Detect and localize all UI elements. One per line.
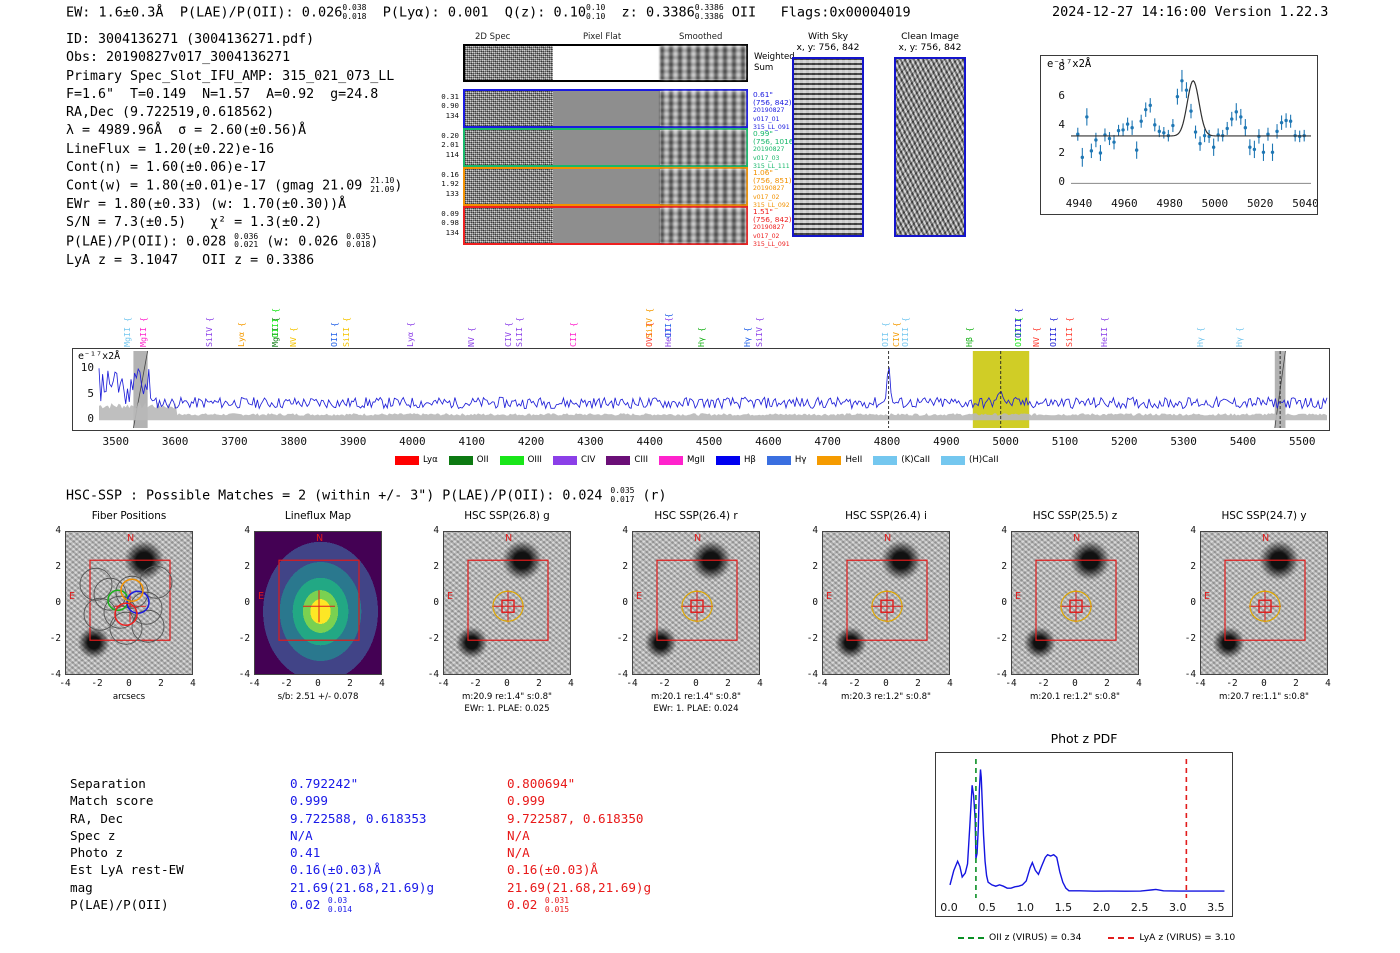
photz-xtick-7: 3.5 bbox=[1196, 901, 1236, 914]
spectrum-xtick-5300: 5300 bbox=[1156, 435, 1212, 448]
emission-xtick-4960: 4960 bbox=[1102, 197, 1146, 210]
photz-legend: OII z (VIRUS) = 0.34LyA z (VIRUS) = 3.10 bbox=[958, 932, 1262, 943]
info-line-redshifts: LyA z = 3.1047 OII z = 0.3386 bbox=[66, 252, 402, 270]
cutout-2-xtick-1: -2 bbox=[463, 678, 487, 689]
cutout-6-ytick-4: -4 bbox=[1178, 669, 1196, 680]
cutout-2-xtick-3: 2 bbox=[527, 678, 551, 689]
z-species: OII bbox=[732, 5, 756, 21]
emission-label-NV-10: NV { bbox=[466, 327, 476, 347]
spectrum-legend-item-10: (H)CaII bbox=[941, 455, 999, 465]
spectrum-xtick-5500: 5500 bbox=[1274, 435, 1330, 448]
match-row-label-3: Spec z bbox=[70, 827, 184, 844]
photz-legend-dash-1 bbox=[1108, 937, 1134, 939]
spec2d-row-3-2dspec bbox=[465, 208, 553, 243]
match-row-label-1: Match score bbox=[70, 792, 184, 809]
spec2d-row-3-pixelflat bbox=[553, 208, 660, 243]
spec2d-row-1 bbox=[463, 128, 748, 167]
cutout-0-xtick-2: 0 bbox=[117, 678, 141, 689]
compass-n-1: N bbox=[316, 533, 323, 544]
full-spectrum-legend: LyαOIIOIIICIVCIIIMgIIHβHγHeII(K)CaII(H)C… bbox=[395, 455, 1010, 465]
timestamp-version: 2024-12-27 14:16:00 Version 1.22.3 bbox=[1052, 4, 1328, 20]
cutout-6-ytick-0: 4 bbox=[1178, 525, 1196, 536]
photz-title: Phot z PDF bbox=[935, 731, 1233, 746]
qz-value: 0.10 bbox=[554, 5, 587, 21]
flags-label: Flags:0x00004019 bbox=[781, 5, 911, 21]
emission-label-HeII-30: HeII { bbox=[1099, 317, 1109, 347]
spec2d-row-0-smoothed bbox=[660, 91, 746, 126]
spectrum-legend-swatch-5 bbox=[659, 456, 683, 465]
cutout-caption1-0: arcsecs bbox=[41, 692, 217, 703]
cutout-1-xtick-2: 0 bbox=[306, 678, 330, 689]
cutout-6-ytick-3: -2 bbox=[1178, 633, 1196, 644]
match-col2-value-2: 9.722587, 0.618350 bbox=[507, 810, 651, 827]
cutout-2-ytick-3: -2 bbox=[421, 633, 439, 644]
spectrum-xtick-5400: 5400 bbox=[1215, 435, 1271, 448]
cutout-image-hsc-ssp-26-8-g[interactable] bbox=[443, 531, 571, 675]
spec2d-row-2-left-2: 133 bbox=[429, 189, 459, 198]
cont-w-close: ) bbox=[394, 179, 402, 194]
compass-e-4: E bbox=[826, 591, 832, 602]
info-plae-w-lower: 0.018 bbox=[346, 240, 370, 249]
cutout-4-ytick-4: -4 bbox=[800, 669, 818, 680]
match-col1-value-5: 0.16(±0.03)Å bbox=[290, 861, 434, 878]
spectrum-legend-label-1: OII bbox=[477, 455, 489, 465]
info-line-id: ID: 3004136271 (3004136271.pdf) bbox=[66, 31, 402, 49]
spectrum-legend-swatch-4 bbox=[606, 456, 630, 465]
plya-value: 0.001 bbox=[448, 5, 489, 21]
emission-label-OIII-23: OIII { bbox=[900, 317, 910, 347]
match-col1-value-1: 0.999 bbox=[290, 792, 434, 809]
qz-lower: 0.10 bbox=[586, 12, 605, 21]
spectrum-legend-label-2: OIII bbox=[528, 455, 542, 465]
cutout-3-xtick-4: 4 bbox=[748, 678, 772, 689]
info-line-primary-spec: Primary Spec_Slot_IFU_AMP: 315_021_073_L… bbox=[66, 68, 402, 86]
photz-xtick-3: 1.5 bbox=[1043, 901, 1083, 914]
cutout-3-ytick-0: 4 bbox=[610, 525, 628, 536]
cutout-5-ytick-4: -4 bbox=[989, 669, 1007, 680]
photz-xtick-2: 1.0 bbox=[1005, 901, 1045, 914]
spec2d-row-1-left-0: 0.20 bbox=[429, 131, 459, 140]
spec2d-row-0-left-0: 0.31 bbox=[429, 92, 459, 101]
cutout-2-ytick-4: -4 bbox=[421, 669, 439, 680]
emission-label-OIII-26: OIII { bbox=[1013, 308, 1023, 338]
cutout-2-xtick-4: 4 bbox=[559, 678, 583, 689]
spectrum-xtick-3700: 3700 bbox=[206, 435, 262, 448]
sky-thumb-image-0 bbox=[792, 57, 864, 237]
spec2d-row-2-left-0: 0.16 bbox=[429, 170, 459, 179]
info-plae-pre: P(LAE)/P(OII): 0.028 bbox=[66, 234, 234, 249]
spectrum-ytick-0: 0 bbox=[70, 412, 94, 425]
ew-value: 1.6±0.3Å bbox=[99, 5, 164, 21]
emission-label-Hγ-18: Hγ { bbox=[696, 327, 706, 347]
cutout-title-0: Fiber Positions bbox=[51, 510, 207, 522]
cutout-1-xtick-4: 4 bbox=[370, 678, 394, 689]
cutout-image-hsc-ssp-24-7-y[interactable] bbox=[1200, 531, 1328, 675]
cutout-4-ytick-0: 4 bbox=[800, 525, 818, 536]
match-col2-plae-value: 0.02 bbox=[507, 897, 545, 912]
cutout-caption1-1: s/b: 2.51 +/- 0.078 bbox=[230, 692, 406, 703]
photz-legend-item-0: OII z (VIRUS) = 0.34 bbox=[958, 932, 1097, 943]
emission-label-SiIV-2: SiIV { bbox=[204, 317, 214, 347]
cont-w-text: Cont(w) = 1.80(±0.01)e-17 (gmag 21.09 bbox=[66, 179, 370, 194]
cutout-3-ytick-4: -4 bbox=[610, 669, 628, 680]
spec2d-weighted-sum-label: Weighted Sum bbox=[754, 52, 795, 73]
spectrum-xtick-3500: 3500 bbox=[88, 435, 144, 448]
spec2d-ws-smoothed bbox=[660, 46, 746, 80]
info-plae-lower: 0.021 bbox=[234, 240, 258, 249]
compass-e-3: E bbox=[636, 591, 642, 602]
cutout-5-ytick-1: 2 bbox=[989, 561, 1007, 572]
spectrum-legend-label-0: Lyα bbox=[423, 455, 438, 465]
spectrum-legend-label-5: MgII bbox=[687, 455, 705, 465]
info-line-lineflux: LineFlux = 1.20(±0.22)e-16 bbox=[66, 141, 402, 159]
emission-label-OIII-28: OIII { bbox=[1048, 317, 1058, 347]
spec2d-row-3-left-labels: 0.090.98134 bbox=[429, 209, 459, 237]
spectrum-xtick-4000: 4000 bbox=[384, 435, 440, 448]
header-summary-line: EW: 1.6±0.3Å P(LAE)/P(OII): 0.0260.0380.… bbox=[66, 4, 911, 21]
compass-e-5: E bbox=[1015, 591, 1021, 602]
spectrum-xtick-4500: 4500 bbox=[681, 435, 737, 448]
spectrum-legend-item-4: CIII bbox=[606, 455, 648, 465]
spec2d-row-2-left-labels: 0.161.92133 bbox=[429, 170, 459, 198]
spec2d-row-2-smoothed bbox=[660, 169, 746, 204]
spectrum-legend-item-6: Hβ bbox=[716, 455, 756, 465]
spectrum-legend-label-7: Hγ bbox=[795, 455, 807, 465]
emission-ytick-4: 4 bbox=[1040, 118, 1065, 131]
spectrum-legend-swatch-9 bbox=[873, 456, 897, 465]
emission-label-Hγ-19: Hγ { bbox=[742, 327, 752, 347]
cutout-4-xtick-4: 4 bbox=[938, 678, 962, 689]
z-lower: 0.3386 bbox=[695, 12, 724, 21]
info-line-sn: S/N = 7.3(±0.5) χ² = 1.3(±0.2) bbox=[66, 214, 402, 232]
full-spectrum-plot bbox=[72, 348, 1330, 431]
cutout-1-ytick-2: 0 bbox=[232, 597, 250, 608]
match-col1-value-3: N/A bbox=[290, 827, 434, 844]
spec2d-row-3-left-0: 0.09 bbox=[429, 209, 459, 218]
spectrum-legend-swatch-8 bbox=[817, 456, 841, 465]
emission-ytick-6: 6 bbox=[1040, 89, 1065, 102]
photz-pdf-plot bbox=[935, 752, 1233, 917]
emission-label-MgII-1: MgII { bbox=[138, 317, 148, 347]
spectrum-legend-item-1: OII bbox=[449, 455, 489, 465]
match-row-label-2: RA, Dec bbox=[70, 810, 184, 827]
spec2d-row-1-smoothed bbox=[660, 130, 746, 165]
spectrum-legend-swatch-6 bbox=[716, 456, 740, 465]
emission-label-OIII-5: OIII { bbox=[270, 308, 280, 338]
spec2d-column-title-0: 2D Spec bbox=[475, 32, 510, 42]
spec2d-row-3-right-4: 315_LL_091 bbox=[753, 241, 811, 249]
compass-n-5: N bbox=[1073, 533, 1080, 544]
spec2d-row-1-2dspec bbox=[465, 130, 553, 165]
emission-xtick-5020: 5020 bbox=[1238, 197, 1282, 210]
cutout-6-xtick-3: 2 bbox=[1284, 678, 1308, 689]
cutout-1-xtick-1: -2 bbox=[274, 678, 298, 689]
photz-xtick-6: 3.0 bbox=[1158, 901, 1198, 914]
cutout-caption1-5: m:20.1 re:1.2" s:0.8" bbox=[987, 692, 1163, 703]
cutout-2-ytick-1: 2 bbox=[421, 561, 439, 572]
spectrum-legend-item-7: Hγ bbox=[767, 455, 807, 465]
emission-label-SiIV-20: SiIV { bbox=[754, 317, 764, 347]
spec2d-row-2 bbox=[463, 167, 748, 206]
match-col1-plae-lower: 0.014 bbox=[328, 905, 352, 914]
photz-legend-label-0: OII z (VIRUS) = 0.34 bbox=[989, 932, 1081, 943]
match-col1-plae-value: 0.02 bbox=[290, 897, 328, 912]
emission-xtick-5000: 5000 bbox=[1193, 197, 1237, 210]
spectrum-legend-label-10: (H)CaII bbox=[969, 455, 999, 465]
emission-label-CIV-11: CIV { bbox=[503, 322, 513, 347]
info-line-radec: RA,Dec (9.722519,0.618562) bbox=[66, 104, 402, 122]
cutout-caption2-3: EWr: 1. PLAE: 0.024 bbox=[608, 704, 784, 715]
cutout-caption2-2: EWr: 1. PLAE: 0.025 bbox=[419, 704, 595, 715]
spectrum-legend-swatch-0 bbox=[395, 456, 419, 465]
cutout-image-hsc-ssp-26-4-i[interactable] bbox=[822, 531, 950, 675]
spectrum-legend-swatch-3 bbox=[553, 456, 577, 465]
match-col1-value-2: 9.722588, 0.618353 bbox=[290, 810, 434, 827]
spectrum-legend-swatch-10 bbox=[941, 456, 965, 465]
cutout-4-ytick-3: -2 bbox=[800, 633, 818, 644]
spectrum-legend-swatch-2 bbox=[500, 456, 524, 465]
spectrum-xtick-3900: 3900 bbox=[325, 435, 381, 448]
spectrum-xtick-4200: 4200 bbox=[503, 435, 559, 448]
compass-e-6: E bbox=[1204, 591, 1210, 602]
info-line-ewr: EWr = 1.80(±0.33) (w: 1.70(±0.30))Å bbox=[66, 196, 402, 214]
cutout-caption1-2: m:20.9 re:1.4" s:0.8" bbox=[419, 692, 595, 703]
info-line-seeing: F=1.6" T=0.149 N=1.57 A=0.92 g=24.8 bbox=[66, 86, 402, 104]
match-row-label-4: Photo z bbox=[70, 844, 184, 861]
emission-label-NV-6: NV { bbox=[288, 327, 298, 347]
spec2d-row-1-pixelflat bbox=[553, 130, 660, 165]
match-col2-plae-lower: 0.015 bbox=[545, 905, 569, 914]
spec2d-row-2-2dspec bbox=[465, 169, 553, 204]
match-row-label-0: Separation bbox=[70, 775, 184, 792]
cutout-3-ytick-3: -2 bbox=[610, 633, 628, 644]
plae-label: P(LAE)/P(OII): bbox=[180, 5, 294, 21]
cutout-title-3: HSC SSP(26.4) r bbox=[618, 510, 774, 522]
emission-label-SiII-12: SiII { bbox=[514, 317, 524, 347]
spec2d-row-3-left-2: 134 bbox=[429, 228, 459, 237]
cutout-1-ytick-1: 2 bbox=[232, 561, 250, 572]
spectrum-xtick-4900: 4900 bbox=[918, 435, 974, 448]
spectrum-xtick-3800: 3800 bbox=[266, 435, 322, 448]
cutout-image-hsc-ssp-26-4-r[interactable] bbox=[632, 531, 760, 675]
cutout-3-xtick-2: 0 bbox=[684, 678, 708, 689]
spec2d-column-title-2: Smoothed bbox=[679, 32, 722, 42]
spectrum-xtick-5000: 5000 bbox=[978, 435, 1034, 448]
cutout-0-xtick-4: 4 bbox=[181, 678, 205, 689]
cutout-image-hsc-ssp-25-5-z[interactable] bbox=[1011, 531, 1139, 675]
compass-e-1: E bbox=[258, 591, 264, 602]
cutout-6-ytick-1: 2 bbox=[1178, 561, 1196, 572]
spec2d-row-0-left-2: 134 bbox=[429, 111, 459, 120]
photz-legend-dash-0 bbox=[958, 937, 984, 939]
cutout-image-lineflux-map[interactable] bbox=[254, 531, 382, 675]
match-table-column-2: 0.800694"0.9999.722587, 0.618350N/AN/A0.… bbox=[507, 775, 651, 914]
compass-n-4: N bbox=[884, 533, 891, 544]
compass-e-0: E bbox=[69, 591, 75, 602]
spectrum-xtick-4100: 4100 bbox=[444, 435, 500, 448]
cutout-5-ytick-2: 0 bbox=[989, 597, 1007, 608]
spectrum-legend-label-3: CIV bbox=[581, 455, 595, 465]
cutout-4-ytick-2: 0 bbox=[800, 597, 818, 608]
photz-legend-item-1: LyA z (VIRUS) = 3.10 bbox=[1108, 932, 1251, 943]
plya-label: P(Lyα): bbox=[383, 5, 440, 21]
cutout-3-ytick-2: 0 bbox=[610, 597, 628, 608]
info-line-cont-n: Cont(n) = 1.60(±0.06)e-17 bbox=[66, 159, 402, 177]
emission-label-SiIV-15: SiIV { bbox=[644, 308, 654, 338]
cutout-title-2: HSC SSP(26.8) g bbox=[429, 510, 585, 522]
spectrum-legend-item-2: OIII bbox=[500, 455, 542, 465]
cutout-0-ytick-0: 4 bbox=[43, 525, 61, 536]
cutout-1-ytick-0: 4 bbox=[232, 525, 250, 536]
info-plae-post: ) bbox=[370, 234, 378, 249]
emission-label-SiII-29: SiII { bbox=[1064, 317, 1074, 347]
info-plae-mid: (w: 0.026 bbox=[258, 234, 346, 249]
cutout-title-6: HSC SSP(24.7) y bbox=[1186, 510, 1342, 522]
spectrum-xtick-4700: 4700 bbox=[800, 435, 856, 448]
match-row-label-7: P(LAE)/P(OII) bbox=[70, 896, 184, 913]
sky-thumb-coords-1: x, y: 756, 842 bbox=[885, 42, 975, 53]
cutout-2-xtick-2: 0 bbox=[495, 678, 519, 689]
match-col1-value-4: 0.41 bbox=[290, 844, 434, 861]
z-value: 0.3386 bbox=[646, 5, 695, 21]
sky-thumb-coords-0: x, y: 756, 842 bbox=[783, 42, 873, 53]
spec2d-row-1-left-2: 114 bbox=[429, 150, 459, 159]
plae-lower: 0.018 bbox=[342, 12, 366, 21]
info-line-cont-w: Cont(w) = 1.80(±0.01)e-17 (gmag 21.09 21… bbox=[66, 177, 402, 196]
compass-n-6: N bbox=[1262, 533, 1269, 544]
emission-label-MgII-0: MgII { bbox=[122, 317, 132, 347]
emission-xtick-5040: 5040 bbox=[1283, 197, 1327, 210]
cutout-6-xtick-2: 0 bbox=[1252, 678, 1276, 689]
emission-line-plot bbox=[1040, 55, 1318, 215]
spec2d-row-3-smoothed bbox=[660, 208, 746, 243]
match-table-column-1: 0.792242"0.9999.722588, 0.618353N/A0.410… bbox=[290, 775, 434, 914]
cutout-5-xtick-2: 0 bbox=[1063, 678, 1087, 689]
cutout-0-ytick-4: -4 bbox=[43, 669, 61, 680]
sky-thumb-title-0: With Sky bbox=[788, 31, 868, 42]
ew-label: EW: bbox=[66, 5, 90, 21]
match-col2-value-7: 0.02 0.0310.015 bbox=[507, 896, 651, 914]
spec2d-row-3-left-1: 0.98 bbox=[429, 218, 459, 227]
spectrum-legend-item-5: MgII bbox=[659, 455, 705, 465]
spec2d-weighted-sum-row bbox=[463, 44, 748, 82]
cutout-5-xtick-1: -2 bbox=[1031, 678, 1055, 689]
photz-legend-label-1: LyA z (VIRUS) = 3.10 bbox=[1139, 932, 1235, 943]
emission-ytick-8: 8 bbox=[1040, 60, 1065, 73]
cutout-4-ytick-1: 2 bbox=[800, 561, 818, 572]
emission-xtick-4980: 4980 bbox=[1148, 197, 1192, 210]
cutout-5-ytick-3: -2 bbox=[989, 633, 1007, 644]
cutout-1-ytick-4: -4 bbox=[232, 669, 250, 680]
cutout-6-ytick-2: 0 bbox=[1178, 597, 1196, 608]
match-col2-value-3: N/A bbox=[507, 827, 651, 844]
emission-label-Lyα-3: Lyα { bbox=[236, 322, 246, 347]
sky-thumb-image-1 bbox=[894, 57, 966, 237]
cutout-6-xtick-4: 4 bbox=[1316, 678, 1340, 689]
cutout-5-ytick-0: 4 bbox=[989, 525, 1007, 536]
spectrum-ytick-10: 10 bbox=[70, 361, 94, 374]
hsc-header-line: HSC-SSP : Possible Matches = 2 (within +… bbox=[66, 487, 667, 504]
spectrum-xtick-5200: 5200 bbox=[1096, 435, 1152, 448]
cutout-image-fiber-positions[interactable] bbox=[65, 531, 193, 675]
info-line-wavelength: λ = 4989.96Å σ = 2.60(±0.56)Å bbox=[66, 122, 402, 140]
cutout-4-xtick-3: 2 bbox=[906, 678, 930, 689]
cutout-0-xtick-3: 2 bbox=[149, 678, 173, 689]
emission-label-Hγ-32: Hγ { bbox=[1234, 327, 1244, 347]
spectrum-legend-swatch-7 bbox=[767, 456, 791, 465]
emission-label-SiII-8: SiII { bbox=[341, 317, 351, 347]
cutout-6-xtick-1: -2 bbox=[1220, 678, 1244, 689]
spectrum-legend-label-8: HeII bbox=[845, 455, 862, 465]
emission-label-Hγ-31: Hγ { bbox=[1195, 327, 1205, 347]
spectrum-legend-label-6: Hβ bbox=[744, 455, 756, 465]
spectrum-xtick-4400: 4400 bbox=[622, 435, 678, 448]
spec2d-row-2-pixelflat bbox=[553, 169, 660, 204]
spectrum-legend-swatch-1 bbox=[449, 456, 473, 465]
match-col2-value-5: 0.16(±0.03)Å bbox=[507, 861, 651, 878]
emission-label-Lyα-9: Lyα { bbox=[405, 322, 415, 347]
match-col2-value-0: 0.800694" bbox=[507, 775, 651, 792]
spectrum-xtick-4600: 4600 bbox=[740, 435, 796, 448]
emission-xtick-4940: 4940 bbox=[1057, 197, 1101, 210]
spectrum-legend-item-9: (K)CaII bbox=[873, 455, 930, 465]
cutout-title-1: Lineflux Map bbox=[240, 510, 396, 522]
cutout-0-ytick-3: -2 bbox=[43, 633, 61, 644]
cutout-2-ytick-2: 0 bbox=[421, 597, 439, 608]
cutout-caption1-4: m:20.3 re:1.2" s:0.8" bbox=[798, 692, 974, 703]
hsc-header-post: (r) bbox=[634, 489, 666, 504]
photz-xtick-1: 0.5 bbox=[967, 901, 1007, 914]
emission-ytick-2: 2 bbox=[1040, 146, 1065, 159]
cutout-1-ytick-3: -2 bbox=[232, 633, 250, 644]
spec2d-row-0-2dspec bbox=[465, 91, 553, 126]
spec2d-row-2-left-1: 1.92 bbox=[429, 179, 459, 188]
cutout-2-ytick-0: 4 bbox=[421, 525, 439, 536]
photz-xtick-4: 2.0 bbox=[1081, 901, 1121, 914]
cutout-3-ytick-1: 2 bbox=[610, 561, 628, 572]
spec2d-ws-2dspec bbox=[465, 46, 553, 80]
spectrum-legend-label-9: (K)CaII bbox=[901, 455, 930, 465]
emission-label-Hβ-24: Hβ { bbox=[964, 327, 974, 347]
hsc-header-pre: HSC-SSP : Possible Matches = 2 (within +… bbox=[66, 489, 610, 504]
cutout-1-xtick-3: 2 bbox=[338, 678, 362, 689]
spectrum-xtick-3600: 3600 bbox=[147, 435, 203, 448]
match-row-label-6: mag bbox=[70, 879, 184, 896]
cutout-caption1-3: m:20.1 re:1.4" s:0.8" bbox=[608, 692, 784, 703]
compass-n-0: N bbox=[127, 533, 134, 544]
cutout-5-xtick-3: 2 bbox=[1095, 678, 1119, 689]
info-line-obs: Obs: 20190827v017_3004136271 bbox=[66, 49, 402, 67]
cutout-0-ytick-1: 2 bbox=[43, 561, 61, 572]
cutout-4-xtick-1: -2 bbox=[842, 678, 866, 689]
match-col1-value-0: 0.792242" bbox=[290, 775, 434, 792]
compass-n-3: N bbox=[694, 533, 701, 544]
match-col2-value-6: 21.69(21.68,21.69)g bbox=[507, 879, 651, 896]
full-spectrum-svg bbox=[73, 349, 1329, 430]
emission-label-OII-7: OII { bbox=[329, 322, 339, 347]
spectrum-legend-item-8: HeII bbox=[817, 455, 862, 465]
spectrum-legend-label-4: CIII bbox=[634, 455, 648, 465]
spec2d-row-3 bbox=[463, 206, 748, 245]
gmag-lower: 21.09 bbox=[370, 185, 394, 194]
hsc-plae-lower: 0.017 bbox=[610, 495, 634, 504]
spec2d-ws-pixelflat bbox=[553, 46, 660, 80]
cutout-0-xtick-1: -2 bbox=[85, 678, 109, 689]
qz-label: Q(z): bbox=[505, 5, 546, 21]
match-col2-value-1: 0.999 bbox=[507, 792, 651, 809]
cutout-caption1-6: m:20.7 re:1.1" s:0.8" bbox=[1176, 692, 1352, 703]
compass-e-2: E bbox=[447, 591, 453, 602]
